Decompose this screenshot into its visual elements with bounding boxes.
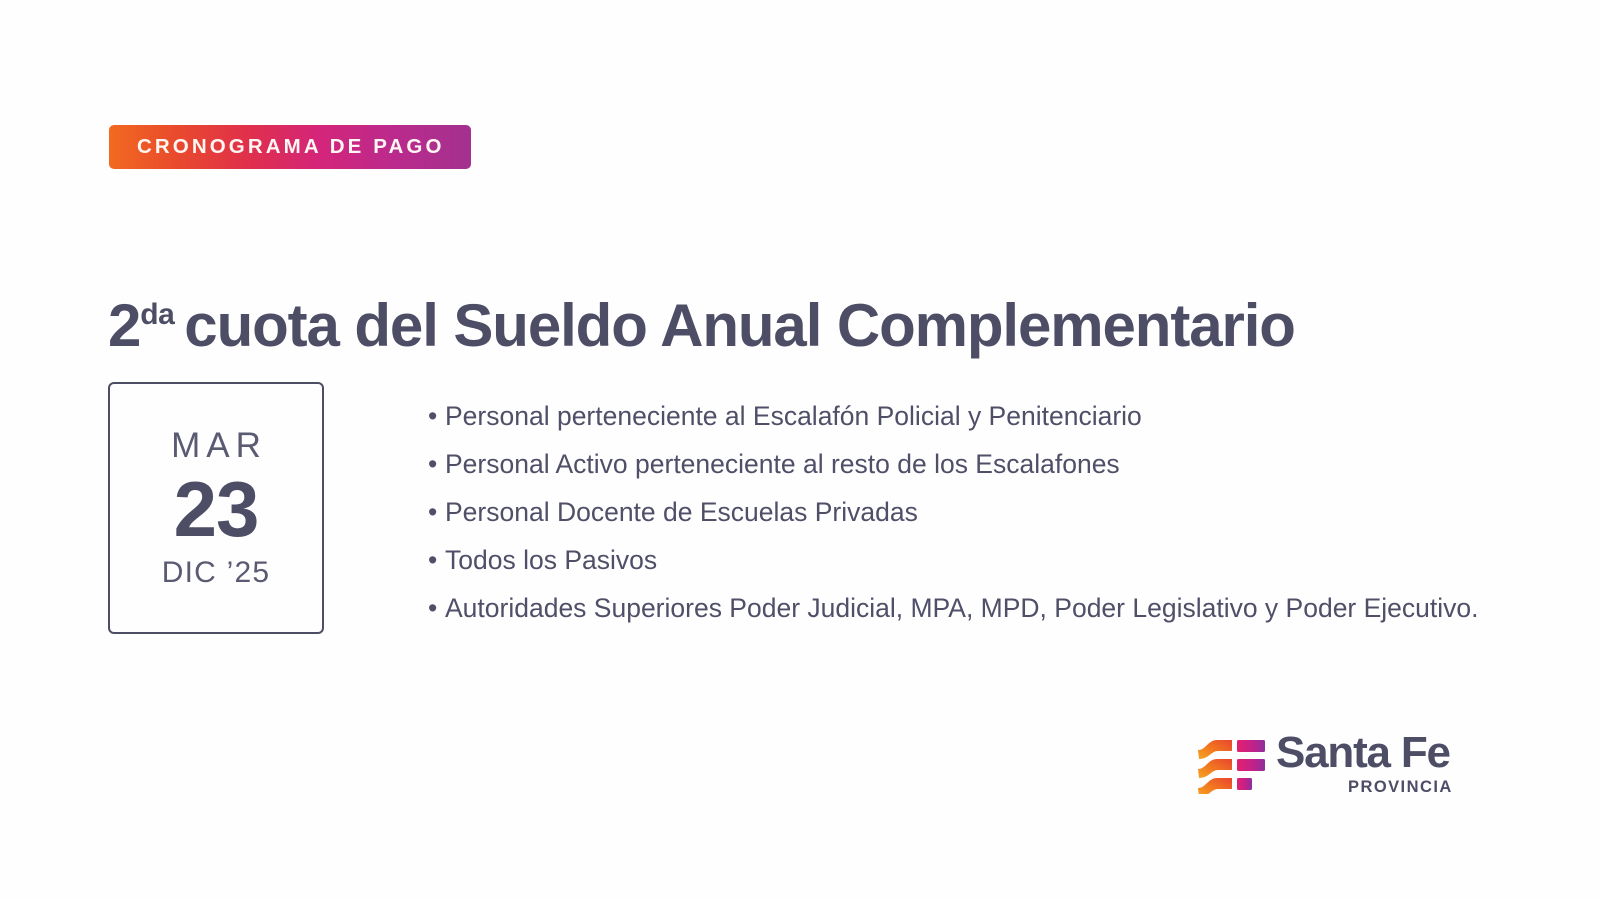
page-title: 2dacuota del Sueldo Anual Complementario: [108, 292, 1295, 359]
headline-number: 2: [108, 292, 140, 359]
list-item: • Autoridades Superiores Poder Judicial,…: [428, 584, 1528, 632]
list-item: • Todos los Pasivos: [428, 536, 1528, 584]
list-item-label: Personal Docente de Escuelas Privadas: [445, 488, 918, 536]
list-item: • Personal perteneciente al Escalafón Po…: [428, 392, 1528, 440]
list-item: • Personal Docente de Escuelas Privadas: [428, 488, 1528, 536]
headline-rest: cuota del Sueldo Anual Complementario: [184, 292, 1295, 359]
list-item-label: Autoridades Superiores Poder Judicial, M…: [445, 584, 1479, 632]
list-item: • Personal Activo perteneciente al resto…: [428, 440, 1528, 488]
santa-fe-logo: Santa Fe PROVINCIA: [1196, 732, 1452, 798]
bullet-icon: •: [428, 440, 445, 488]
date-month-year: DIC ’25: [162, 558, 270, 588]
section-badge-label: CRONOGRAMA DE PAGO: [137, 137, 445, 158]
beneficiary-list: • Personal perteneciente al Escalafón Po…: [428, 392, 1528, 632]
bullet-icon: •: [428, 488, 445, 536]
bullet-icon: •: [428, 584, 445, 632]
logo-subtitle: PROVINCIA: [1348, 779, 1453, 796]
list-item-label: Personal Activo perteneciente al resto d…: [445, 440, 1120, 488]
list-item-label: Personal perteneciente al Escalafón Poli…: [445, 392, 1142, 440]
date-day: 23: [174, 467, 259, 551]
date-weekday: MAR: [165, 428, 267, 463]
bullet-icon: •: [428, 536, 445, 584]
section-badge: CRONOGRAMA DE PAGO: [109, 125, 471, 169]
bullet-icon: •: [428, 392, 445, 440]
payment-schedule-poster: CRONOGRAMA DE PAGO 2dacuota del Sueldo A…: [0, 0, 1599, 899]
headline-ordinal-suffix: da: [140, 298, 174, 331]
logo-wordmark: Santa Fe: [1276, 730, 1450, 777]
list-item-label: Todos los Pasivos: [445, 536, 657, 584]
date-card: MAR 23 DIC ’25: [108, 382, 324, 634]
santa-fe-flag-mark-icon: [1196, 732, 1266, 794]
